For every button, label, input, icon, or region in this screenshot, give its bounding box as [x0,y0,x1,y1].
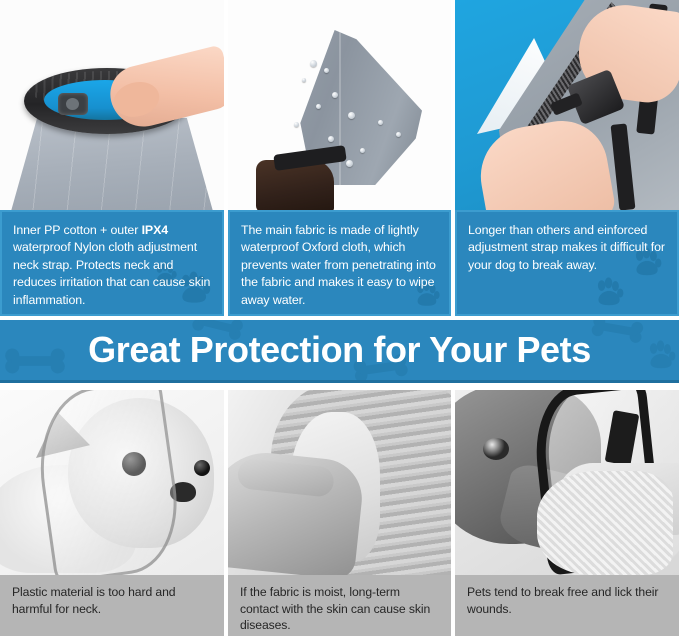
water-droplet-shape [348,112,355,119]
feature-card-oxford-cloth: The main fabric is made of lightly water… [228,0,451,316]
moist-fabric-skin-photo [228,390,451,575]
problem-card-moist-fabric: If the fabric is moist, long-term contac… [228,390,451,636]
problem-caption-text: If the fabric is moist, long-term contac… [240,584,441,634]
problem-caption-text: Plastic material is too hard and harmful… [12,584,214,617]
paw-print-icon [643,339,677,378]
dog-licking-bandaged-paw-photo [455,390,679,575]
bone-icon [587,320,647,350]
feature-card-neck-strap: Inner PP cotton + outer IPX4 waterproof … [0,0,224,316]
hand-shape [228,447,366,575]
water-droplet-shape [316,104,321,109]
water-droplet-shape [294,122,299,127]
ipx4-emphasis: IPX4 [142,223,168,237]
feature-row-top: Inner PP cotton + outer IPX4 waterproof … [0,0,679,316]
water-droplet-shape [396,132,401,137]
problem-caption-text: Pets tend to break free and lick their w… [467,584,669,617]
collar-clip-shape [58,93,88,115]
problem-caption-moist-fabric: If the fabric is moist, long-term contac… [228,575,451,636]
dog-eye-shape [483,438,509,460]
bandaged-paw-shape [537,471,673,575]
problem-row-bottom: Plastic material is too hard and harmful… [0,390,679,636]
feature-caption-text: Longer than others and einforced adjustm… [468,222,668,274]
water-droplet-shape [378,120,383,125]
feature-caption-adjustment-strap: Longer than others and einforced adjustm… [455,210,679,316]
plastic-cone-shape [29,390,186,575]
water-droplet-shape [324,68,329,73]
feature-card-adjustment-strap: Longer than others and einforced adjustm… [455,0,679,316]
feature-caption-text: The main fabric is made of lightly water… [241,222,440,309]
waterproof-oxford-cloth-photo [228,0,451,210]
infographic-page: Inner PP cotton + outer IPX4 waterproof … [0,0,679,636]
water-droplet-shape [302,78,306,82]
water-droplet-shape [346,160,353,167]
feature-caption-text: Inner PP cotton + outer IPX4 waterproof … [13,222,213,309]
paw-print-icon [591,276,625,310]
banner-headline: Great Protection for Your Pets [88,329,591,371]
plastic-cone-chihuahua-photo [0,390,224,575]
water-droplet-shape [328,136,334,142]
water-droplet-shape [310,60,317,67]
water-droplet-shape [332,92,338,98]
problem-caption-plastic-cone: Plastic material is too hard and harmful… [0,575,224,636]
inflatable-collar-neck-strap-photo [0,0,224,210]
adjustment-strap-buckle-photo [455,0,679,210]
bone-icon [2,348,68,379]
problem-card-plastic-cone: Plastic material is too hard and harmful… [0,390,224,636]
problem-card-licking-wounds: Pets tend to break free and lick their w… [455,390,679,636]
water-droplet-shape [360,148,365,153]
dog-eye-shape [194,460,210,476]
feature-caption-oxford-cloth: The main fabric is made of lightly water… [228,210,451,316]
feature-caption-neck-strap: Inner PP cotton + outer IPX4 waterproof … [0,210,224,316]
problem-caption-licking-wounds: Pets tend to break free and lick their w… [455,575,679,636]
headline-banner: Great Protection for Your Pets [0,320,679,383]
